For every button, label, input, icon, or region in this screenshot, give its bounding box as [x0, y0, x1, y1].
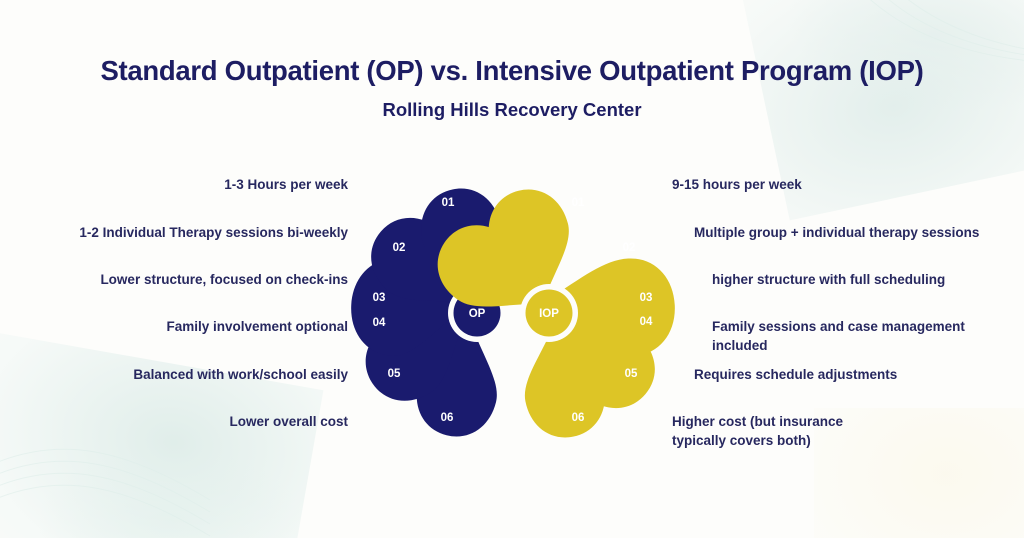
infographic-canvas: Standard Outpatient (OP) vs. Intensive O…: [0, 0, 1024, 538]
iop-hub-label: IOP: [539, 308, 559, 320]
iop-petal-number-03: 03: [640, 292, 653, 304]
iop-petal-number-01: 01: [572, 197, 585, 209]
iop-petal-number-05: 05: [625, 368, 638, 380]
iop-petal-number-04: 04: [640, 316, 653, 328]
iop-flower-diagram: IOP 01 02 03 04 05 06: [0, 0, 1024, 538]
iop-petal-number-02: 02: [623, 242, 636, 254]
iop-petal-number-06: 06: [572, 412, 585, 424]
